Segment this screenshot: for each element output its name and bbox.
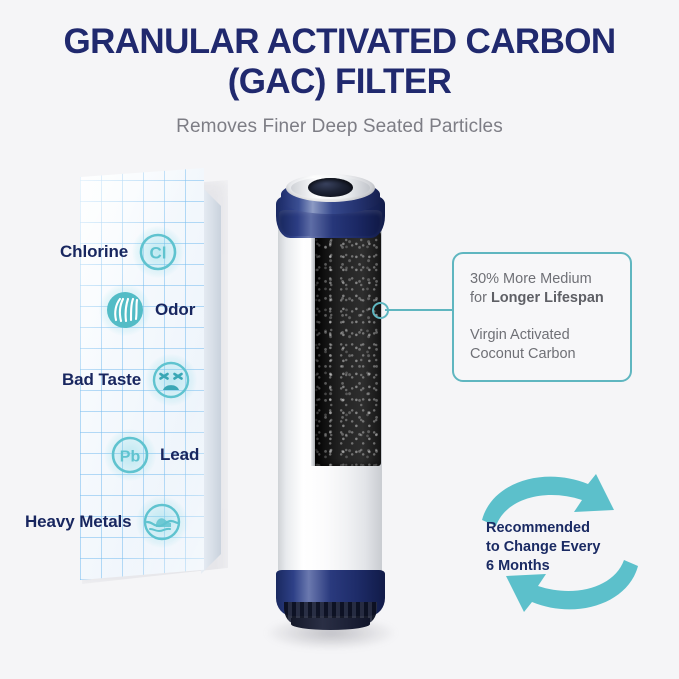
odor-waves-icon [103, 288, 147, 332]
replacement-interval-text: Recommended to Change Every 6 Months [486, 519, 638, 576]
svg-text:Pb: Pb [120, 449, 141, 466]
callout-line-1: 30% More Medium for Longer Lifespan [470, 270, 616, 308]
contaminant-row-odor: Odor [103, 288, 195, 332]
badge-line-1: Recommended [486, 520, 590, 536]
badge-line-2: to Change Every [486, 539, 600, 555]
contaminant-label-lead: Lead [160, 445, 199, 465]
infographic-canvas: GRANULAR ACTIVATED CARBON (GAC) FILTER R… [0, 0, 679, 679]
activated-carbon-media [315, 228, 381, 466]
replacement-interval-badge: Recommended to Change Every 6 Months [462, 462, 658, 622]
callout-text-more-medium: 30% More Medium [470, 271, 592, 287]
contaminant-row-chlorine: Chlorine Cl [60, 230, 180, 274]
page-title-line-1: GRANULAR ACTIVATED CARBON [0, 22, 679, 62]
chlorine-cl-icon: Cl [136, 230, 180, 274]
contaminant-label-heavy-metals: Heavy Metals [25, 512, 132, 532]
callout-box-medium-info: 30% More Medium for Longer Lifespan Virg… [452, 252, 632, 382]
contaminant-row-lead: Pb Lead [108, 433, 199, 477]
callout-line-2: Virgin Activated Coconut Carbon [470, 326, 616, 364]
header: GRANULAR ACTIVATED CARBON (GAC) FILTER R… [0, 22, 679, 138]
cap-bottom-foot [291, 618, 370, 630]
contaminant-label-chlorine: Chlorine [60, 242, 128, 262]
lead-pb-icon: Pb [108, 433, 152, 477]
gac-filter-cartridge [258, 166, 403, 646]
callout-text-coconut-carbon: Coconut Carbon [470, 346, 576, 362]
svg-text:Cl: Cl [150, 244, 167, 263]
callout-text-virgin-activated: Virgin Activated [470, 327, 570, 343]
badge-line-3: 6 Months [486, 558, 550, 574]
heavy-metals-icon [140, 500, 184, 544]
callout-leader-line [385, 309, 454, 311]
callout-text-for: for [470, 290, 491, 306]
contaminant-label-bad-taste: Bad Taste [62, 370, 141, 390]
page-title-line-2: (GAC) FILTER [0, 62, 679, 102]
panel-side-edge [201, 174, 221, 574]
bad-taste-face-icon [149, 358, 193, 402]
callout-text-longer-lifespan: Longer Lifespan [491, 290, 604, 306]
contaminant-row-heavy-metals: Heavy Metals [25, 500, 184, 544]
cap-top-outlet-hole [308, 178, 353, 197]
contaminant-row-bad-taste: Bad Taste [62, 358, 193, 402]
contaminant-label-odor: Odor [155, 300, 195, 320]
page-subtitle: Removes Finer Deep Seated Particles [0, 116, 679, 138]
